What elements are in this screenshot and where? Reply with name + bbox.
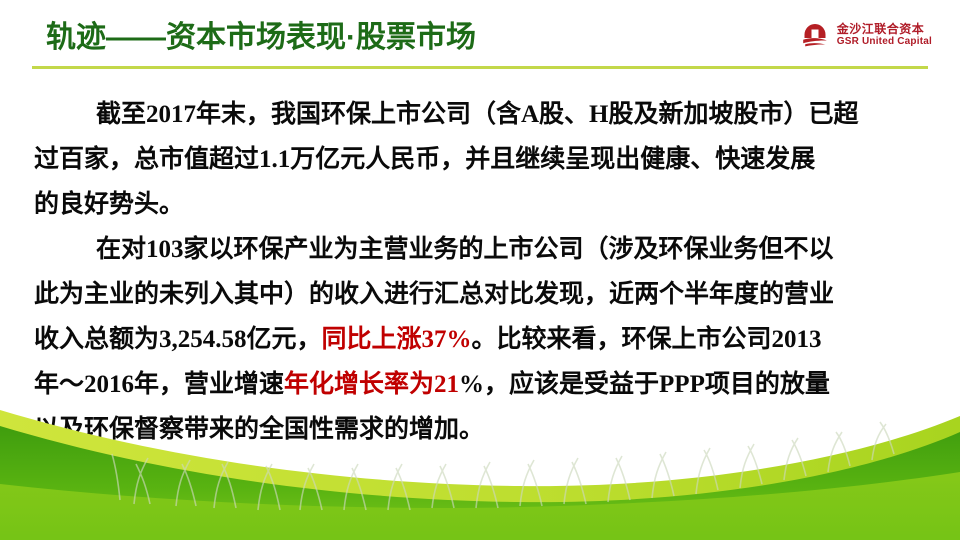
paragraph-1-line-2: 过百家，总市值超过1.1万亿元人民币，并且继续呈现出健康、快速发展 — [34, 137, 926, 182]
paragraph-2-line-4: 年～2016年，营业增速年化增长率为21%，应该是受益于PPP项目的放量 — [34, 362, 926, 407]
page-title: 轨迹——资本市场表现·股票市场 — [46, 21, 476, 54]
paragraph-2: 在对103家以环保产业为主营业务的上市公司（涉及环保业务但不以 此为主业的未列入… — [34, 227, 926, 452]
logo-name-en: GSR United Capital — [837, 36, 932, 47]
paragraph-2-line-4-tail: %，应该是受益于PPP项目的放量 — [459, 371, 830, 398]
title-underline-rule — [32, 66, 928, 69]
logo-wordmark: 金沙江联合资本 GSR United Capital — [837, 23, 932, 47]
paragraph-1-line-3: 的良好势头。 — [34, 182, 926, 227]
paragraph-2-line-3: 收入总额为3,254.58亿元，同比上涨37%。比较来看，环保上市公司2013 — [34, 317, 926, 362]
paragraph-1: 截至2017年末，我国环保上市公司（含A股、H股及新加坡股市）已超 过百家，总市… — [34, 92, 926, 227]
paragraph-1-line-1-text: 截至2017年末，我国环保上市公司（含A股、H股及新加坡股市）已超 — [96, 101, 859, 128]
gsr-circular-emblem-icon — [800, 20, 830, 50]
revenue-total-text: 收入总额为3,254.58亿元， — [34, 326, 322, 353]
cagr-highlight: 年化增长率为21 — [284, 371, 459, 398]
paragraph-2-line-3-tail: 。比较来看，环保上市公司2013 — [472, 326, 822, 353]
logo-name-cn: 金沙江联合资本 — [837, 23, 932, 36]
slide-body-text: 截至2017年末，我国环保上市公司（含A股、H股及新加坡股市）已超 过百家，总市… — [34, 92, 926, 452]
paragraph-2-line-2: 此为主业的未列入其中）的收入进行汇总对比发现，近两个半年度的营业 — [34, 272, 926, 317]
paragraph-2-line-5: 以及环保督察带来的全国性需求的增加。 — [34, 407, 926, 452]
paragraph-2-line-1: 在对103家以环保产业为主营业务的上市公司（涉及环保业务但不以 — [34, 227, 926, 272]
slide-canvas: 轨迹——资本市场表现·股票市场 金沙江联合资本 GSR United Capit… — [0, 0, 960, 540]
yoy-growth-highlight: 同比上涨37% — [322, 326, 472, 353]
paragraph-1-line-1: 截至2017年末，我国环保上市公司（含A股、H股及新加坡股市）已超 — [34, 92, 926, 137]
period-range-text: 年～2016年，营业增速 — [34, 371, 284, 398]
company-logo: 金沙江联合资本 GSR United Capital — [800, 20, 932, 50]
paragraph-2-line-1-text: 在对103家以环保产业为主营业务的上市公司（涉及环保业务但不以 — [96, 236, 834, 263]
